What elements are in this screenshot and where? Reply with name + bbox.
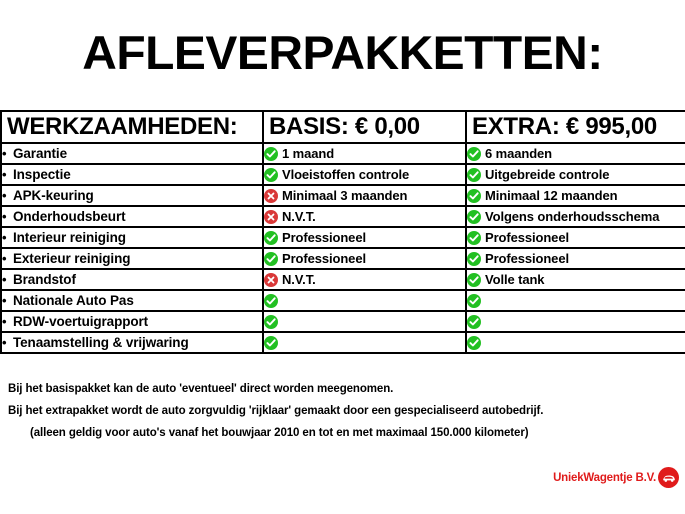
check-icon bbox=[467, 273, 481, 287]
extra-value-wrap bbox=[467, 294, 685, 308]
check-icon bbox=[264, 231, 278, 245]
extra-cell bbox=[466, 332, 685, 353]
extra-cell: Uitgebreide controle bbox=[466, 164, 685, 185]
task-label: Inspectie bbox=[13, 167, 71, 182]
extra-value-label: Professioneel bbox=[485, 251, 569, 266]
extra-value-wrap: Professioneel bbox=[467, 251, 685, 266]
task-label: Onderhoudsbeurt bbox=[13, 209, 126, 224]
car-icon bbox=[658, 467, 679, 488]
task-cell: •Inspectie bbox=[1, 164, 263, 185]
table-row: •BrandstofN.V.T.Volle tank bbox=[1, 269, 685, 290]
check-icon bbox=[264, 252, 278, 266]
extra-value-label: Volgens onderhoudsschema bbox=[485, 209, 659, 224]
column-header-extra: EXTRA: € 995,00 bbox=[466, 111, 685, 143]
bullet-icon: • bbox=[2, 210, 13, 223]
column-header-basis: BASIS: € 0,00 bbox=[263, 111, 466, 143]
check-icon bbox=[467, 189, 481, 203]
cross-icon bbox=[264, 273, 278, 287]
basis-value-wrap: N.V.T. bbox=[264, 209, 465, 224]
bullet-icon: • bbox=[2, 273, 13, 286]
basis-value-label: Professioneel bbox=[282, 230, 366, 245]
table-row: •Garantie1 maand6 maanden bbox=[1, 143, 685, 164]
extra-cell: Professioneel bbox=[466, 227, 685, 248]
check-icon bbox=[467, 147, 481, 161]
basis-cell: 1 maand bbox=[263, 143, 466, 164]
extra-value-label: Professioneel bbox=[485, 230, 569, 245]
basis-value-wrap: Vloeistoffen controle bbox=[264, 167, 465, 182]
basis-cell: Vloeistoffen controle bbox=[263, 164, 466, 185]
column-header-werkzaamheden-label: WERKZAAMHEDEN: bbox=[2, 113, 262, 141]
cross-icon bbox=[264, 210, 278, 224]
bullet-icon: • bbox=[2, 336, 13, 349]
check-icon bbox=[264, 294, 278, 308]
task-label: Exterieur reiniging bbox=[13, 251, 130, 266]
extra-cell: Professioneel bbox=[466, 248, 685, 269]
extra-cell bbox=[466, 290, 685, 311]
basis-cell bbox=[263, 290, 466, 311]
basis-cell: Minimaal 3 maanden bbox=[263, 185, 466, 206]
extra-value-wrap: Minimaal 12 maanden bbox=[467, 188, 685, 203]
table-row: •Tenaamstelling & vrijwaring bbox=[1, 332, 685, 353]
basis-value-label: N.V.T. bbox=[282, 272, 316, 287]
task-cell: •Tenaamstelling & vrijwaring bbox=[1, 332, 263, 353]
table-row: •Nationale Auto Pas bbox=[1, 290, 685, 311]
basis-value-label: N.V.T. bbox=[282, 209, 316, 224]
basis-cell: Professioneel bbox=[263, 248, 466, 269]
task-cell: •Brandstof bbox=[1, 269, 263, 290]
basis-value-wrap: Minimaal 3 maanden bbox=[264, 188, 465, 203]
extra-value-wrap bbox=[467, 336, 685, 350]
task-cell: •Nationale Auto Pas bbox=[1, 290, 263, 311]
table-body: •Garantie1 maand6 maanden•InspectieVloei… bbox=[1, 143, 685, 353]
basis-value-label: Minimaal 3 maanden bbox=[282, 188, 407, 203]
basis-value-label: 1 maand bbox=[282, 146, 334, 161]
task-label: RDW-voertuigrapport bbox=[13, 314, 148, 329]
basis-cell: N.V.T. bbox=[263, 269, 466, 290]
check-icon bbox=[264, 168, 278, 182]
extra-cell bbox=[466, 311, 685, 332]
column-header-basis-label: BASIS: € 0,00 bbox=[264, 113, 465, 141]
extra-value-label: Uitgebreide controle bbox=[485, 167, 609, 182]
task-cell: •Interieur reiniging bbox=[1, 227, 263, 248]
basis-value-wrap: N.V.T. bbox=[264, 272, 465, 287]
table-row: •RDW-voertuigrapport bbox=[1, 311, 685, 332]
table-row: •Exterieur reinigingProfessioneelProfess… bbox=[1, 248, 685, 269]
table-row: •OnderhoudsbeurtN.V.T.Volgens onderhouds… bbox=[1, 206, 685, 227]
bullet-icon: • bbox=[2, 231, 13, 244]
task-label: Brandstof bbox=[13, 272, 76, 287]
check-icon bbox=[264, 147, 278, 161]
company-logo: UniekWagentje B.V. bbox=[553, 467, 679, 488]
extra-value-label: Volle tank bbox=[485, 272, 544, 287]
bullet-icon: • bbox=[2, 147, 13, 160]
extra-cell: Volle tank bbox=[466, 269, 685, 290]
extra-value-wrap: 6 maanden bbox=[467, 146, 685, 161]
basis-value-label: Vloeistoffen controle bbox=[282, 167, 409, 182]
check-icon bbox=[264, 315, 278, 329]
basis-value-wrap bbox=[264, 315, 465, 329]
basis-value-wrap: 1 maand bbox=[264, 146, 465, 161]
check-icon bbox=[467, 315, 481, 329]
task-label: Garantie bbox=[13, 146, 67, 161]
task-cell: •APK-keuring bbox=[1, 185, 263, 206]
extra-value-wrap bbox=[467, 315, 685, 329]
bullet-icon: • bbox=[2, 189, 13, 202]
note-line-2: Bij het extrapakket wordt de auto zorgvu… bbox=[8, 400, 668, 422]
task-cell: •Garantie bbox=[1, 143, 263, 164]
table-row: •InspectieVloeistoffen controleUitgebrei… bbox=[1, 164, 685, 185]
extra-cell: Volgens onderhoudsschema bbox=[466, 206, 685, 227]
table-row: •APK-keuringMinimaal 3 maandenMinimaal 1… bbox=[1, 185, 685, 206]
footer-notes: Bij het basispakket kan de auto 'eventue… bbox=[8, 378, 668, 444]
cross-icon bbox=[264, 189, 278, 203]
check-icon bbox=[264, 336, 278, 350]
column-header-werkzaamheden: WERKZAAMHEDEN: bbox=[1, 111, 263, 143]
basis-cell: Professioneel bbox=[263, 227, 466, 248]
task-label: APK-keuring bbox=[13, 188, 94, 203]
basis-value-wrap: Professioneel bbox=[264, 251, 465, 266]
company-logo-text: UniekWagentje B.V. bbox=[553, 472, 656, 484]
extra-value-label: 6 maanden bbox=[485, 146, 552, 161]
note-line-1: Bij het basispakket kan de auto 'eventue… bbox=[8, 378, 668, 400]
check-icon bbox=[467, 252, 481, 266]
basis-cell bbox=[263, 332, 466, 353]
check-icon bbox=[467, 336, 481, 350]
column-header-extra-label: EXTRA: € 995,00 bbox=[467, 113, 685, 141]
extra-cell: Minimaal 12 maanden bbox=[466, 185, 685, 206]
bullet-icon: • bbox=[2, 252, 13, 265]
page-title: AFLEVERPAKKETTEN: bbox=[0, 26, 685, 80]
basis-cell bbox=[263, 311, 466, 332]
extra-value-wrap: Volgens onderhoudsschema bbox=[467, 209, 685, 224]
delivery-packages-table: WERKZAAMHEDEN: BASIS: € 0,00 EXTRA: € 99… bbox=[0, 110, 685, 354]
basis-cell: N.V.T. bbox=[263, 206, 466, 227]
extra-value-label: Minimaal 12 maanden bbox=[485, 188, 617, 203]
extra-value-wrap: Professioneel bbox=[467, 230, 685, 245]
check-icon bbox=[467, 210, 481, 224]
bullet-icon: • bbox=[2, 294, 13, 307]
basis-value-label: Professioneel bbox=[282, 251, 366, 266]
check-icon bbox=[467, 231, 481, 245]
bullet-icon: • bbox=[2, 168, 13, 181]
task-label: Tenaamstelling & vrijwaring bbox=[13, 335, 189, 350]
basis-value-wrap bbox=[264, 336, 465, 350]
basis-value-wrap: Professioneel bbox=[264, 230, 465, 245]
extra-value-wrap: Uitgebreide controle bbox=[467, 167, 685, 182]
bullet-icon: • bbox=[2, 315, 13, 328]
table-row: •Interieur reinigingProfessioneelProfess… bbox=[1, 227, 685, 248]
task-label: Interieur reiniging bbox=[13, 230, 126, 245]
extra-cell: 6 maanden bbox=[466, 143, 685, 164]
task-label: Nationale Auto Pas bbox=[13, 293, 134, 308]
task-cell: •Onderhoudsbeurt bbox=[1, 206, 263, 227]
note-line-3: (alleen geldig voor auto's vanaf het bou… bbox=[8, 422, 668, 444]
task-cell: •Exterieur reiniging bbox=[1, 248, 263, 269]
check-icon bbox=[467, 168, 481, 182]
basis-value-wrap bbox=[264, 294, 465, 308]
extra-value-wrap: Volle tank bbox=[467, 272, 685, 287]
task-cell: •RDW-voertuigrapport bbox=[1, 311, 263, 332]
table-header-row: WERKZAAMHEDEN: BASIS: € 0,00 EXTRA: € 99… bbox=[1, 111, 685, 143]
check-icon bbox=[467, 294, 481, 308]
